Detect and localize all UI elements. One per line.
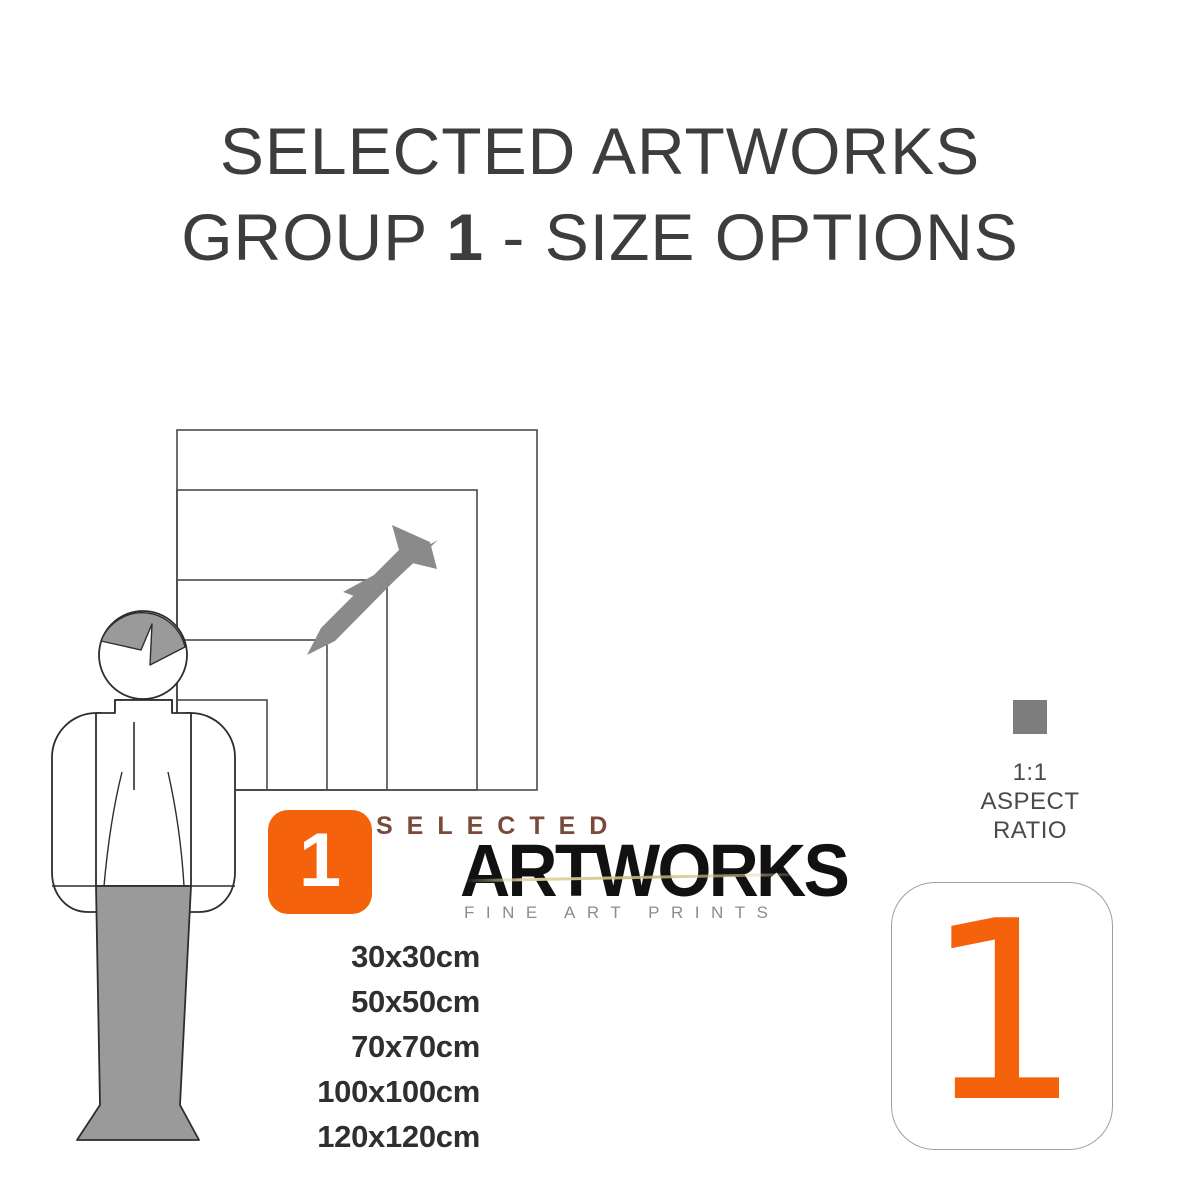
size-options-list: 30x30cm 50x50cm 70x70cm 100x100cm 120x12… bbox=[180, 934, 480, 1159]
person-arm-right bbox=[186, 713, 235, 912]
size-option: 120x120cm bbox=[180, 1114, 480, 1159]
group-number-card: 1 bbox=[891, 882, 1113, 1150]
brand-logo: 1 SELECTED ARTWORKS FINE ART PRINTS bbox=[268, 808, 838, 926]
size-option: 100x100cm bbox=[180, 1069, 480, 1114]
aspect-ratio-swatch-icon bbox=[1013, 700, 1047, 734]
aspect-ratio-label-line2: RATIO bbox=[930, 816, 1130, 845]
size-option: 50x50cm bbox=[180, 979, 480, 1024]
aspect-ratio-label-line1: ASPECT bbox=[930, 787, 1130, 816]
size-option: 30x30cm bbox=[180, 934, 480, 979]
aspect-ratio-value: 1:1 bbox=[930, 758, 1130, 787]
aspect-ratio-block: 1:1 ASPECT RATIO bbox=[930, 700, 1130, 845]
brand-badge-number: 1 bbox=[268, 810, 372, 914]
person-arm-left bbox=[52, 713, 101, 912]
brand-artworks-text: ARTWORKS bbox=[460, 834, 847, 908]
person-torso bbox=[96, 700, 191, 886]
group-number-value: 1 bbox=[892, 879, 1114, 1147]
size-option: 70x70cm bbox=[180, 1024, 480, 1069]
brand-badge: 1 bbox=[268, 810, 372, 914]
growth-arrow-icon bbox=[307, 525, 438, 655]
brand-tagline: FINE ART PRINTS bbox=[464, 903, 779, 923]
